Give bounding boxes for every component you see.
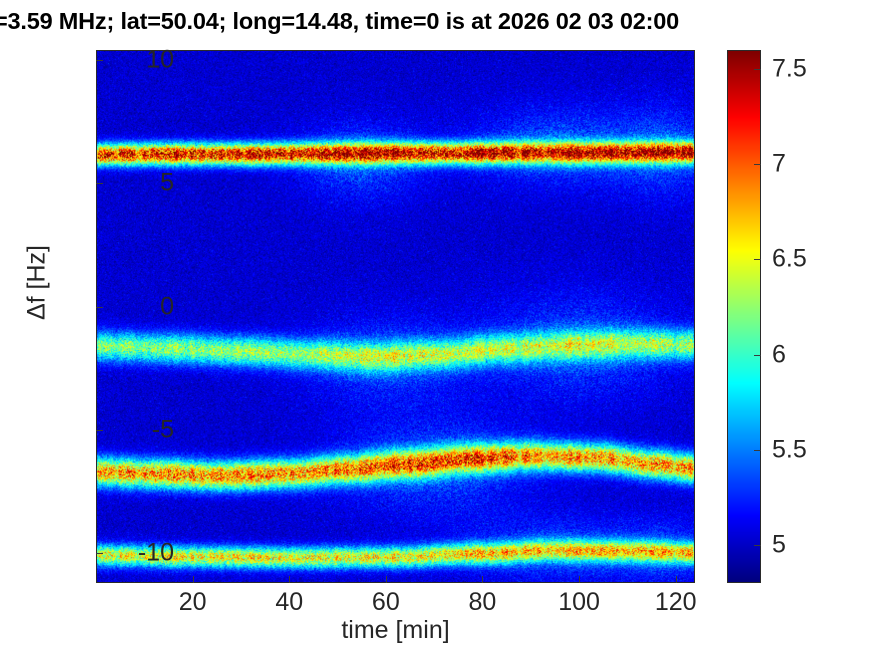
x-tick-mark [289, 576, 290, 583]
colorbar-tick-mark [754, 69, 761, 70]
y-tick-label: 5 [54, 169, 174, 198]
x-tick-label: 120 [616, 588, 736, 617]
colorbar-tick-label: 7.5 [772, 55, 807, 84]
y-tick-label: -5 [54, 416, 174, 445]
colorbar-tick-label: 5.5 [772, 435, 807, 464]
colorbar-tick-mark [754, 355, 761, 356]
y-tick-mark [96, 307, 103, 308]
x-axis-label: time [min] [96, 616, 695, 645]
colorbar-tick-label: 5 [772, 530, 786, 559]
y-tick-label: 10 [54, 45, 174, 74]
y-tick-label: 0 [54, 292, 174, 321]
y-tick-mark [96, 60, 103, 61]
x-tick-mark [676, 576, 677, 583]
colorbar[interactable] [727, 50, 761, 583]
colorbar-tick-mark [754, 164, 761, 165]
colorbar-tick-mark [754, 545, 761, 546]
colorbar-tick-label: 7 [772, 150, 786, 179]
y-axis-label: Δf [Hz] [23, 213, 52, 353]
x-tick-mark [482, 576, 483, 583]
colorbar-gradient [728, 51, 760, 582]
y-tick-mark [96, 183, 103, 184]
spectrogram-figure: =3.59 MHz; lat=50.04; long=14.48, time=0… [0, 0, 875, 656]
colorbar-tick-label: 6.5 [772, 245, 807, 274]
spectrogram-image [97, 51, 694, 582]
y-tick-mark [96, 430, 103, 431]
colorbar-tick-mark [754, 259, 761, 260]
spectrogram-axes[interactable] [96, 50, 695, 583]
y-tick-label: -10 [54, 539, 174, 568]
figure-title: =3.59 MHz; lat=50.04; long=14.48, time=0… [0, 8, 824, 35]
colorbar-tick-label: 6 [772, 340, 786, 369]
x-tick-mark [193, 576, 194, 583]
x-tick-mark [579, 576, 580, 583]
y-tick-mark [96, 553, 103, 554]
x-tick-mark [386, 576, 387, 583]
colorbar-tick-mark [754, 450, 761, 451]
